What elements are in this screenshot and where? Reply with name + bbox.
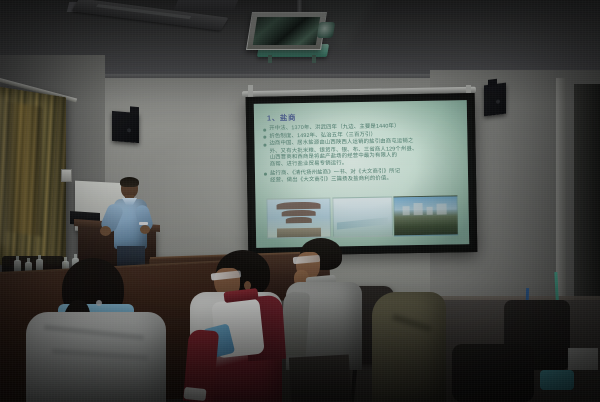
- white-object: [568, 348, 598, 370]
- bullet-dot-icon: [264, 173, 267, 176]
- window-daylight-glow: [0, 95, 14, 247]
- slide-image-row: [266, 195, 458, 238]
- pagoda-base: [277, 228, 322, 238]
- bullet-text-continued: 经营、做出《大文商引》三篇扬及盐商利的价值。: [270, 175, 460, 185]
- speaker-bracket-right: [488, 79, 497, 87]
- presenter-left-hand: [100, 226, 111, 236]
- screen-bracket-left: [248, 85, 253, 97]
- slide-bullet-list: 开中法、1370年、洪武四年（九边、主要是1440年） 折色制度、1492年、弘…: [263, 122, 460, 184]
- slide-title: 1、盐商: [267, 112, 296, 124]
- speaker-bracket-left: [130, 106, 139, 115]
- projector-foot-right: [312, 55, 316, 63]
- city-building: [427, 207, 433, 215]
- presenter: [108, 178, 154, 274]
- trousers: [289, 354, 351, 402]
- stacked-chair: [452, 344, 534, 402]
- city-landscape-photo: [393, 195, 458, 236]
- pagoda-roof-tier-2: [282, 210, 316, 217]
- olive-coat: [372, 292, 446, 402]
- city-building: [403, 206, 410, 215]
- light-switch[interactable]: [61, 169, 72, 182]
- bullet-dot-icon: [263, 128, 266, 131]
- pagoda-photo: [266, 198, 331, 239]
- wall-speaker-left: [112, 111, 139, 143]
- city-building: [437, 204, 447, 215]
- pagoda-roof-tier-3: [286, 217, 312, 223]
- presenter-right-hand: [140, 225, 150, 234]
- speaker-cone-right: [496, 99, 500, 103]
- wall-speaker-right: [484, 83, 506, 117]
- bullet-dot-icon: [263, 136, 266, 139]
- ceiling-projector: [246, 12, 327, 50]
- hair-clip: [96, 300, 102, 306]
- projector-foot-left: [268, 55, 272, 63]
- lecture-room-screenshot: 1、盐商 开中法、1370年、洪武四年（九边、主要是1440年） 折色制度、14…: [0, 0, 600, 402]
- bullet-dot-icon: [263, 144, 266, 147]
- speaker-cone-left: [127, 128, 131, 132]
- projector-lens: [317, 22, 336, 38]
- cyan-object: [540, 370, 574, 390]
- pagoda-roof-tier-1: [276, 202, 320, 210]
- bridge-photo: [332, 196, 393, 237]
- ceiling-vent: [174, 0, 238, 10]
- projector-housing-panel: [253, 17, 320, 45]
- projection-screen[interactable]: 1、盐商 开中法、1370年、洪武四年（九边、主要是1440年） 折色制度、14…: [246, 93, 478, 256]
- slide-surface: 1、盐商 开中法、1370年、洪武四年（九边、主要是1440年） 折色制度、14…: [254, 100, 469, 248]
- presenter-hair: [120, 177, 139, 187]
- bridge-span: [337, 217, 388, 229]
- door-frame: [574, 84, 600, 314]
- city-building: [414, 203, 423, 215]
- jacket-cuff: [183, 387, 206, 401]
